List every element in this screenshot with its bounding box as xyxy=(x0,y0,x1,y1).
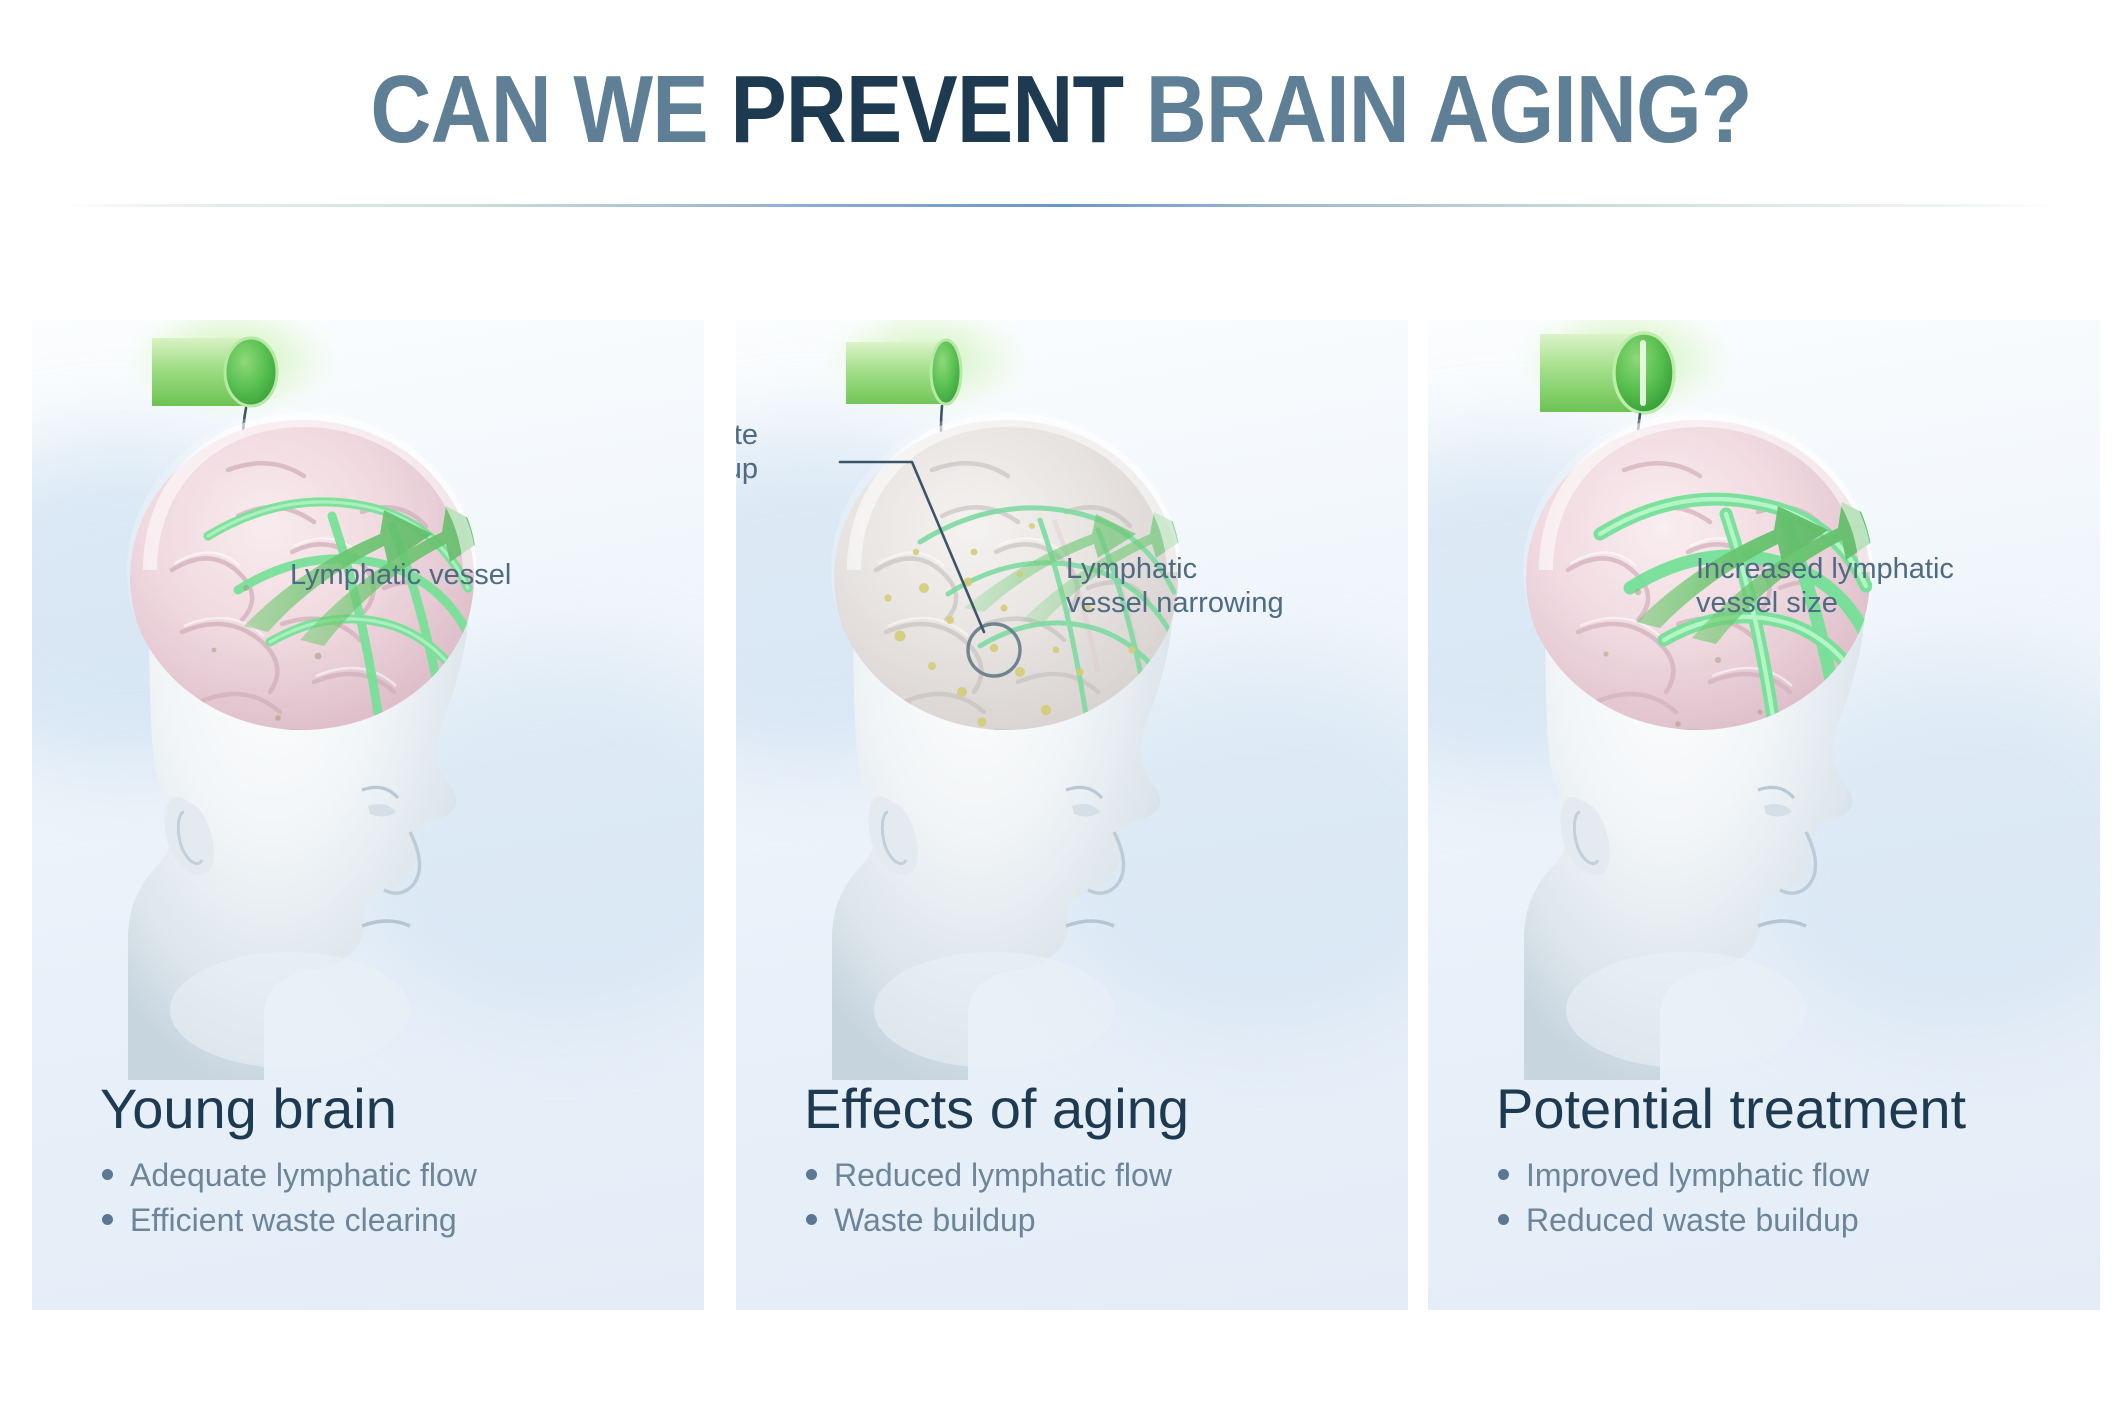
caption-title: Effects of aging xyxy=(804,1080,1408,1139)
caption-title: Potential treatment xyxy=(1496,1080,2100,1139)
panel-grid: Lymphatic vessel Young brain Adequate ly… xyxy=(0,0,2122,1415)
panel-effects-of-aging[interactable]: Lymphatic vessel narrowing Waste buildup… xyxy=(736,320,1408,1310)
caption-title: Young brain xyxy=(100,1080,704,1139)
caption-bullets: Adequate lymphatic flow Efficient waste … xyxy=(100,1153,704,1243)
callout-lymphatic-vessel: Lymphatic vessel xyxy=(290,558,511,592)
list-item: Reduced lymphatic flow xyxy=(804,1153,1408,1198)
callout-waste-buildup: Waste buildup xyxy=(736,418,758,486)
list-item: Adequate lymphatic flow xyxy=(100,1153,704,1198)
callout-lymphatic-vessel-narrowing: Lymphatic vessel narrowing xyxy=(1066,552,1284,620)
panel-potential-treatment[interactable]: Increased lymphatic vessel size Potentia… xyxy=(1428,320,2100,1310)
caption-bullets: Improved lymphatic flow Reduced waste bu… xyxy=(1496,1153,2100,1243)
caption-potential-treatment: Potential treatment Improved lymphatic f… xyxy=(1428,1080,2100,1242)
illustration-young-brain xyxy=(32,320,704,1080)
list-item: Improved lymphatic flow xyxy=(1496,1153,2100,1198)
callout-increased-lymphatic-vessel-size: Increased lymphatic vessel size xyxy=(1696,552,1954,620)
panel-young-brain[interactable]: Lymphatic vessel Young brain Adequate ly… xyxy=(32,320,704,1310)
caption-young-brain: Young brain Adequate lymphatic flow Effi… xyxy=(32,1080,704,1242)
illustration-treated-brain xyxy=(1428,320,2100,1080)
list-item: Waste buildup xyxy=(804,1198,1408,1243)
caption-effects-of-aging: Effects of aging Reduced lymphatic flow … xyxy=(736,1080,1408,1242)
list-item: Efficient waste clearing xyxy=(100,1198,704,1243)
illustration-aging-brain xyxy=(736,320,1408,1080)
caption-bullets: Reduced lymphatic flow Waste buildup xyxy=(804,1153,1408,1243)
list-item: Reduced waste buildup xyxy=(1496,1198,2100,1243)
